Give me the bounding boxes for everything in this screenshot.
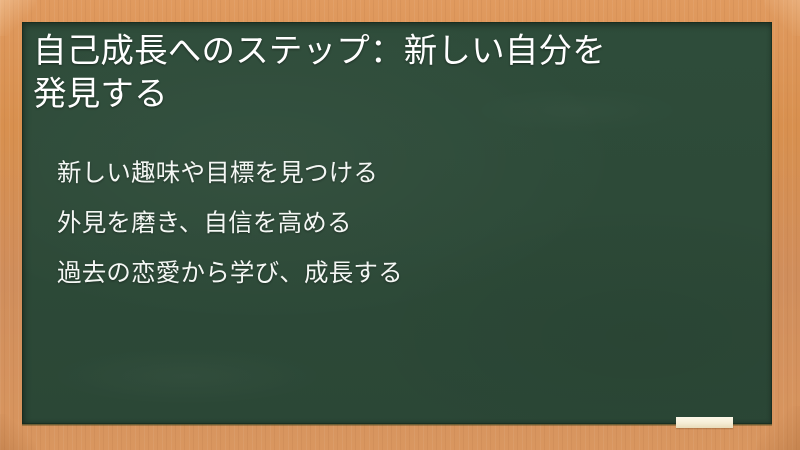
list-item: 過去の恋愛から学び、成長する <box>57 249 754 299</box>
slide-bullet-list: 新しい趣味や目標を見つける 外見を磨き、自信を高める 過去の恋愛から学び、成長す… <box>57 149 754 299</box>
list-item: 外見を磨き、自信を高める <box>57 199 754 249</box>
chalkboard-surface: 自己成長へのステップ：新しい自分を 発見する 新しい趣味や目標を見つける 外見を… <box>22 22 772 424</box>
slide-content: 自己成長へのステップ：新しい自分を 発見する 新しい趣味や目標を見つける 外見を… <box>33 30 754 299</box>
slide-title: 自己成長へのステップ：新しい自分を 発見する <box>33 30 754 116</box>
chalkboard-slide: 自己成長へのステップ：新しい自分を 発見する 新しい趣味や目標を見つける 外見を… <box>0 0 800 450</box>
board-ledge-seam <box>22 424 772 426</box>
chalk-stick-icon <box>676 417 733 428</box>
list-item: 新しい趣味や目標を見つける <box>57 149 754 199</box>
